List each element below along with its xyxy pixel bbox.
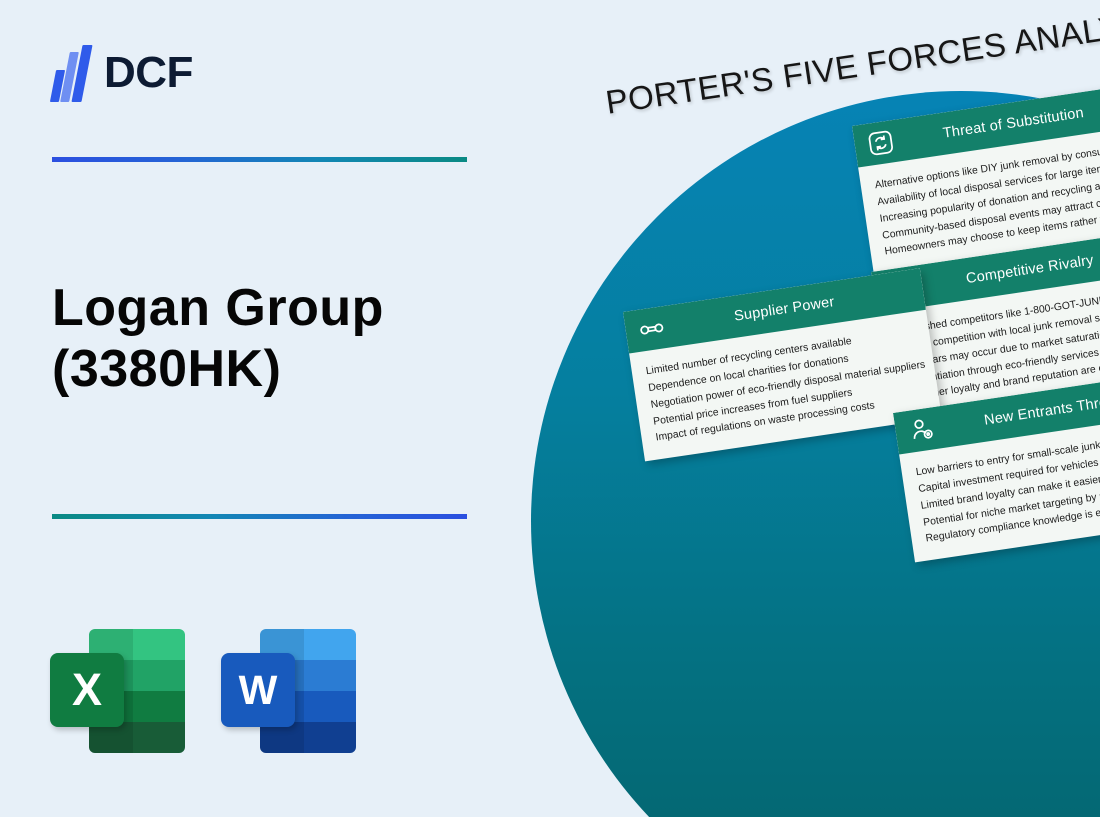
page-title: Logan Group (3380HK) bbox=[52, 278, 482, 401]
divider-bottom bbox=[52, 514, 467, 519]
microsoft-word-icon[interactable]: W bbox=[221, 627, 356, 755]
logo-text: DCF bbox=[104, 51, 193, 95]
divider-top bbox=[52, 157, 467, 162]
bar-chart-mark-icon bbox=[52, 44, 94, 102]
link-connector-icon bbox=[637, 314, 667, 344]
office-icon-group: X W bbox=[50, 627, 356, 755]
user-person-icon bbox=[907, 415, 937, 445]
word-letter-tile: W bbox=[221, 653, 295, 727]
left-info-panel: DCF Logan Group (3380HK) X W bbox=[0, 0, 530, 817]
refresh-sync-icon bbox=[866, 128, 896, 158]
microsoft-excel-icon[interactable]: X bbox=[50, 627, 185, 755]
excel-letter-tile: X bbox=[50, 653, 124, 727]
dcf-logo[interactable]: DCF bbox=[52, 42, 193, 104]
poster-canvas: PORTER'S FIVE FORCES ANALYSIS Threat of … bbox=[0, 0, 1100, 817]
